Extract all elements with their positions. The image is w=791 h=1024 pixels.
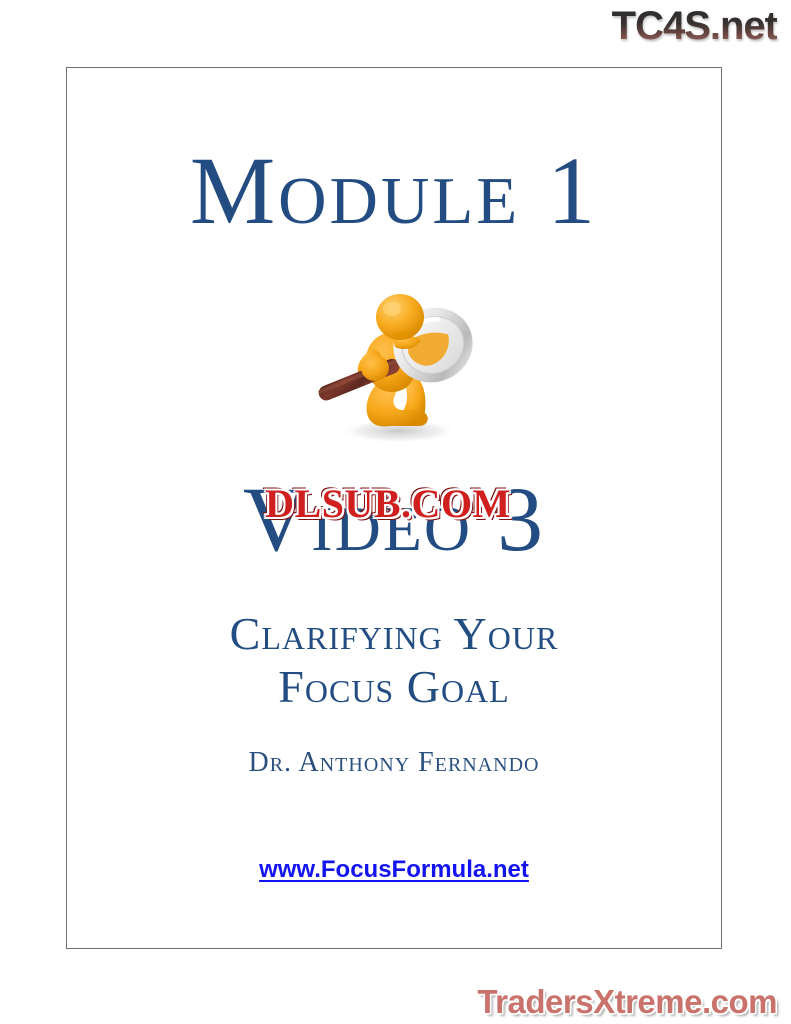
- page-subtitle: Clarifying Your Focus Goal: [67, 608, 721, 714]
- page-subtitle-line-1: Clarifying Your: [67, 608, 721, 661]
- website-link-row: www.FocusFormula.net: [67, 858, 721, 882]
- hero-illustration: [67, 278, 721, 443]
- watermark-top-right: TC4S.net: [612, 6, 777, 46]
- author-name: Dr. Anthony Fernando: [67, 749, 721, 777]
- watermark-bottom-right: TradersXtreme.com: [477, 985, 777, 1018]
- document-page-inner: Module 1: [67, 68, 721, 948]
- document-page: Module 1: [66, 67, 722, 949]
- video-title-block: Video 3 DLSUB.COM: [67, 473, 721, 573]
- person-with-magnifying-glass-icon: [299, 283, 489, 443]
- page-subtitle-line-2: Focus Goal: [67, 661, 721, 714]
- page-title: Module 1: [67, 143, 721, 239]
- watermark-overlay: DLSUB.COM: [265, 484, 511, 524]
- website-link[interactable]: www.FocusFormula.net: [259, 856, 529, 883]
